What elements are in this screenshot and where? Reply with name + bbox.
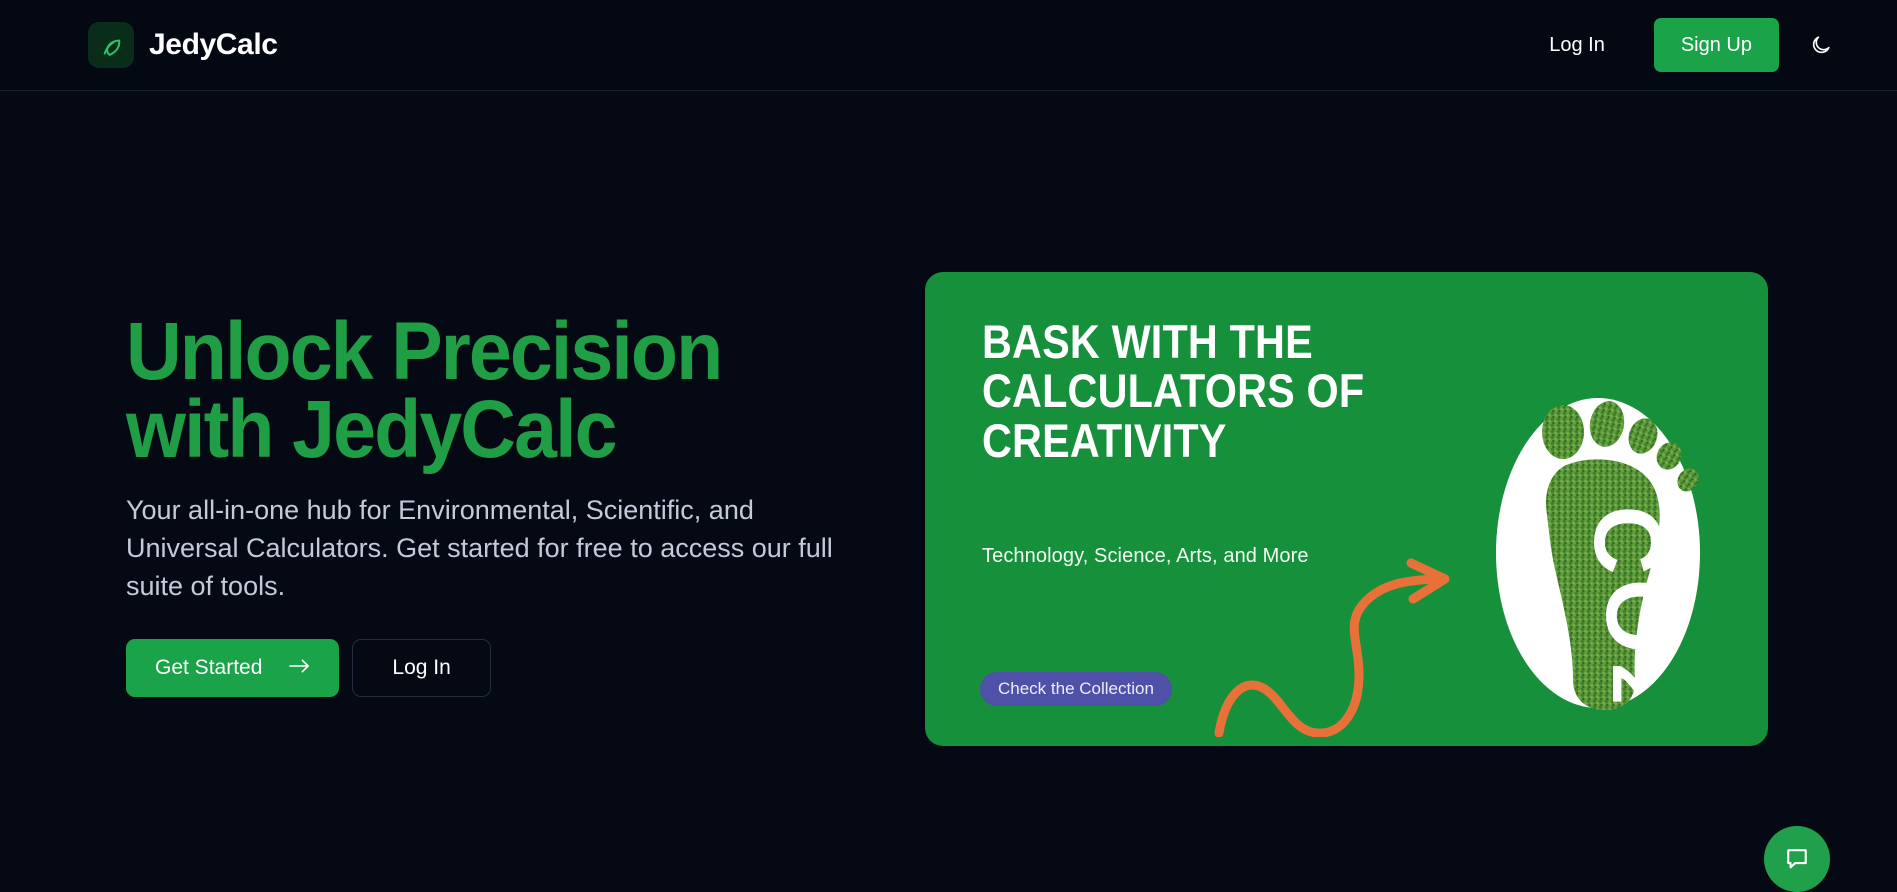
- hero-section: Unlock Precision with JedyCalc Your all-…: [0, 91, 1897, 827]
- hero-cta-row: Get Started Log In: [126, 639, 856, 697]
- header-signup-button[interactable]: Sign Up: [1654, 18, 1779, 72]
- header-login-link[interactable]: Log In: [1527, 24, 1627, 67]
- co2-footprint-icon: C O 2: [1473, 388, 1723, 718]
- promo-heading-line-2: CALCULATORS OF: [982, 364, 1364, 417]
- promo-card[interactable]: BASK WITH THE CALCULATORS OF CREATIVITY …: [925, 272, 1768, 746]
- hero-login-button[interactable]: Log In: [352, 639, 490, 697]
- app-header: JedyCalc Log In Sign Up: [0, 0, 1897, 91]
- promo-heading-line-1: BASK WITH THE: [982, 315, 1313, 368]
- page-title: Unlock Precision with JedyCalc: [126, 313, 812, 469]
- check-collection-badge[interactable]: Check the Collection: [980, 672, 1172, 706]
- get-started-label: Get Started: [155, 656, 262, 680]
- arrow-right-icon: [289, 656, 310, 680]
- squiggly-arrow-icon: [1213, 557, 1483, 737]
- brand-logo-link[interactable]: JedyCalc: [88, 22, 278, 68]
- hero-title-line-2: with JedyCalc: [126, 384, 616, 475]
- promo-heading-line-3: CREATIVITY: [982, 414, 1227, 467]
- hero-subtitle: Your all-in-one hub for Environmental, S…: [126, 491, 841, 606]
- moon-icon[interactable]: [1801, 25, 1841, 65]
- hero-copy: Unlock Precision with JedyCalc Your all-…: [126, 313, 856, 697]
- promo-heading: BASK WITH THE CALCULATORS OF CREATIVITY: [982, 317, 1364, 465]
- leaf-icon: [88, 22, 134, 68]
- header-actions: Log In Sign Up: [1527, 18, 1841, 72]
- chat-bubble-icon[interactable]: [1764, 826, 1830, 892]
- get-started-button[interactable]: Get Started: [126, 639, 339, 697]
- brand-name: JedyCalc: [149, 28, 278, 62]
